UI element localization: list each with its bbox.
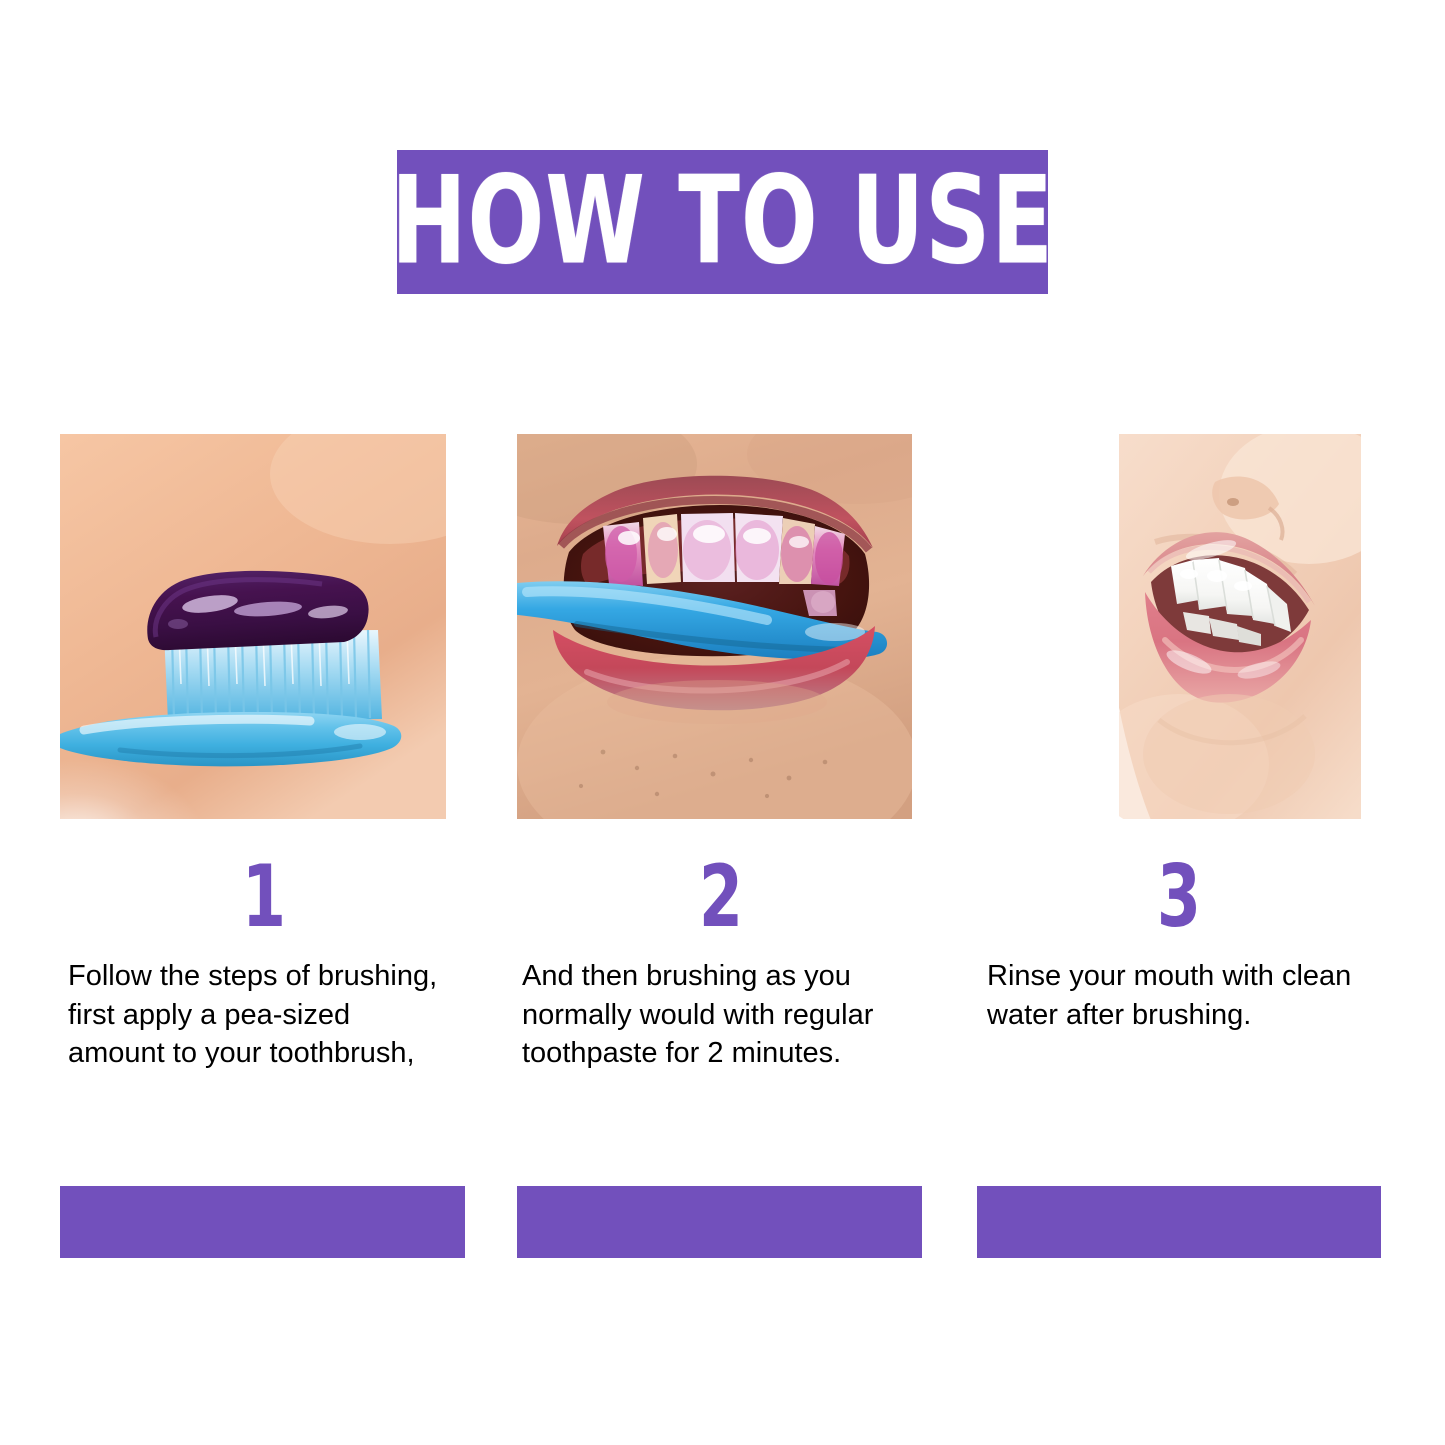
toothbrush-with-purple-toothpaste-photo: [60, 434, 446, 819]
page-title: HOW TO USE: [391, 162, 1054, 283]
step-footer-bar-1: [60, 1186, 465, 1258]
how-to-use-banner: HOW TO USE: [397, 150, 1048, 294]
step-number-3: 3: [1012, 854, 1347, 940]
step-number-1: 1: [97, 854, 432, 940]
step-caption-2: And then brushing as you normally would …: [522, 957, 900, 1073]
step-caption-1: Follow the steps of brushing, first appl…: [68, 957, 438, 1073]
step-caption-3: Rinse your mouth with clean water after …: [987, 957, 1357, 1034]
white-smile-photo: [1119, 434, 1361, 819]
step-footer-bar-2: [517, 1186, 922, 1258]
step-footer-bar-3: [977, 1186, 1381, 1258]
brushing-stained-teeth-photo: [517, 434, 912, 819]
step-number-2: 2: [554, 854, 889, 940]
